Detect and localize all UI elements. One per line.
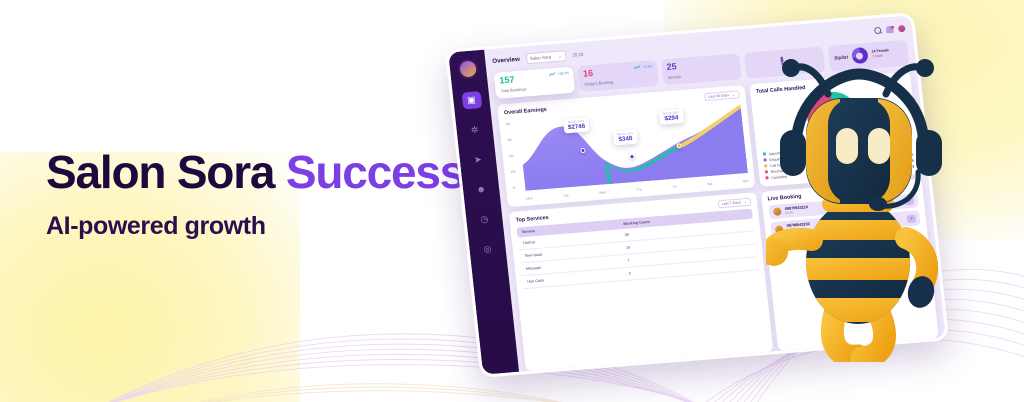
sidebar-item-settings[interactable]: ✲ — [464, 121, 485, 139]
date-range-chip[interactable]: 25 20 — [572, 52, 583, 58]
headline-main: Salon Sora — [46, 146, 286, 198]
sparkline-icon — [634, 65, 641, 70]
y-tick: 1k — [512, 185, 518, 189]
hero-banner: Salon Sora Success AI-powered growth ▣ ✲… — [0, 0, 1024, 402]
x-tick: Sun — [743, 178, 749, 182]
x-tick: Sat — [707, 181, 712, 185]
sidebar-item-support[interactable]: ◎ — [477, 240, 498, 258]
x-tick: Mon — [526, 196, 533, 200]
headline-accent: Success — [286, 146, 464, 198]
y-tick: 30k — [507, 137, 513, 141]
chevron-down-icon: ⌄ — [744, 200, 747, 204]
data-point-2[interactable] — [629, 153, 635, 158]
chevron-down-icon: ⌄ — [732, 92, 735, 96]
overall-earnings-card: Overall Earnings Last 30 Days ⌄ 40k 30k … — [497, 84, 755, 206]
earnings-tooltip-3: Mar 20, 2023 $294 — [659, 108, 684, 124]
top-services-range-select[interactable]: Last 7 Days ⌄ — [717, 197, 751, 208]
x-tick: Wed — [599, 190, 606, 194]
chevron-down-icon: ⌄ — [558, 53, 562, 59]
hero-copy: Salon Sora Success AI-powered growth — [46, 148, 464, 241]
top-services-card: Top Services Last 7 Days ⌄ Service Booki… — [509, 192, 773, 371]
earnings-tooltip-1: Mar 20, 2023 $2746 — [563, 117, 590, 133]
y-tick: 40k — [505, 121, 511, 125]
sparkline-icon — [549, 72, 556, 77]
stat-card-todays-booking[interactable]: +1.2% 16 Today's Booking — [577, 60, 658, 92]
data-point-1[interactable] — [580, 147, 586, 152]
data-point-3[interactable] — [676, 143, 682, 148]
salon-select-value: Salon Sora — [530, 54, 552, 61]
sidebar-item-dashboard[interactable]: ▣ — [461, 91, 482, 109]
earnings-area-svg — [518, 103, 748, 190]
y-tick: 10k — [510, 169, 516, 173]
top-services-title: Top Services — [515, 214, 549, 223]
x-tick: Fri — [673, 184, 677, 188]
earnings-title: Overall Earnings — [504, 106, 547, 115]
stat-card-service[interactable]: 25 Service — [661, 53, 742, 85]
earnings-y-axis: 40k 30k 20k 10k 1k — [505, 121, 517, 189]
overview-title: Overview — [492, 56, 520, 65]
x-tick: Thu — [636, 187, 642, 191]
stat-card-total-bookings[interactable]: +18.2% 157 Total Bookings — [494, 67, 575, 99]
sidebar-item-history[interactable]: ◷ — [474, 210, 495, 228]
hero-subtitle: AI-powered growth — [46, 212, 464, 241]
earnings-chart: 40k 30k 20k 10k 1k — [505, 101, 749, 201]
earnings-tooltip-2: Mar 20, 2023 $348 — [613, 129, 638, 145]
salon-select[interactable]: Salon Sora ⌄ — [525, 50, 567, 64]
bee-robot-mascot — [766, 52, 972, 362]
sidebar-item-campaigns[interactable]: ➤ — [468, 151, 489, 169]
app-logo-icon — [457, 58, 479, 79]
notification-bell-icon[interactable] — [886, 26, 894, 34]
page-title: Salon Sora Success — [46, 148, 464, 196]
search-icon[interactable] — [874, 27, 882, 35]
earnings-range-select[interactable]: Last 30 Days ⌄ — [704, 90, 740, 101]
y-tick: 20k — [508, 153, 514, 157]
x-tick: Tue — [563, 193, 569, 197]
sidebar-item-users[interactable]: ☻ — [471, 181, 492, 199]
avatar[interactable] — [898, 25, 906, 33]
earnings-plot — [518, 103, 748, 190]
